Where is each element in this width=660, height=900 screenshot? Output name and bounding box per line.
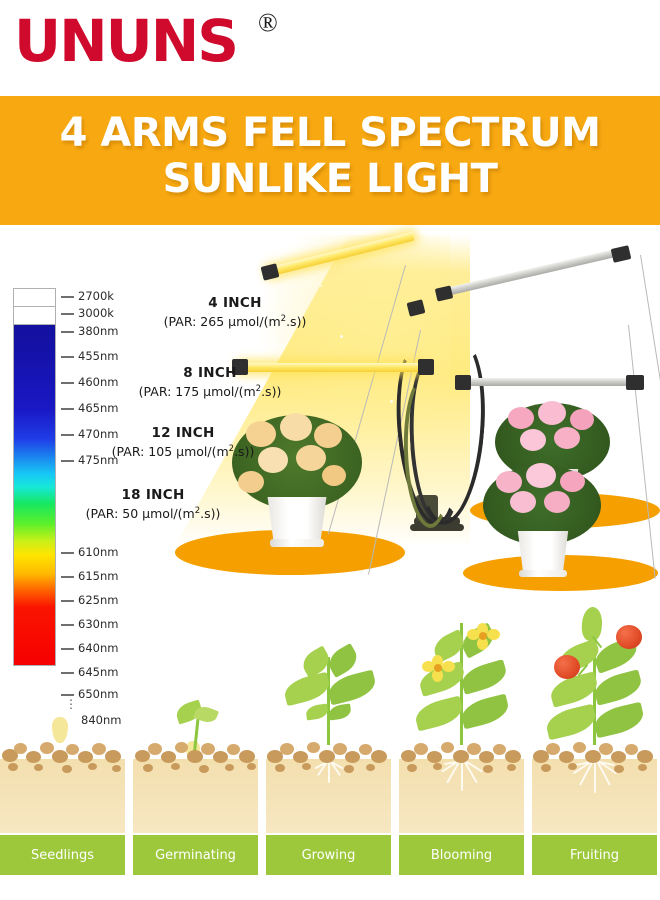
plant-stem: [327, 657, 330, 745]
pot-left: [265, 497, 329, 545]
stage-label: Germinating: [133, 848, 258, 863]
pot-rim-left: [270, 539, 324, 547]
logo-header: UNUNS ®: [0, 0, 660, 96]
plant-leaf: [592, 669, 645, 706]
rose-bloom: [314, 423, 342, 448]
soil-surface: [399, 739, 524, 775]
spectrum-label: 2700k: [78, 289, 114, 303]
spectrum-tick: [61, 552, 74, 554]
rose-bloom-pink: [538, 401, 566, 425]
rose-bloom-pink: [510, 491, 536, 513]
sparkle: [340, 335, 343, 338]
spectrum-tick: [61, 600, 74, 602]
stage-label: Growing: [266, 848, 391, 863]
spectrum-label: 460nm: [78, 375, 118, 389]
flower-petal: [442, 661, 455, 672]
brand-logo-text: UNUNS: [14, 12, 237, 70]
spectrum-label: 615nm: [78, 569, 118, 583]
rose-bloom: [322, 465, 346, 486]
soil-surface: [0, 739, 125, 775]
title-line-2: SUNLIKE LIGHT: [0, 156, 660, 202]
tomato-fruit: [616, 625, 642, 649]
spectrum-tick: [61, 356, 74, 358]
flower-petal: [487, 629, 500, 640]
rose-bloom-pink: [570, 409, 594, 430]
rose-bloom-pink: [554, 427, 580, 449]
led-cap: [455, 375, 471, 390]
growth-stage-seedlings: Seedlings: [0, 605, 125, 875]
support-wire: [628, 325, 656, 579]
tomato-fruit: [554, 655, 580, 679]
plant-leaf: [544, 704, 599, 741]
growth-stage-fruiting: Fruiting: [532, 605, 657, 875]
rose-bloom-pink: [560, 471, 585, 492]
flower-center: [434, 664, 442, 672]
spectrum-tick: [61, 382, 74, 384]
stage-label: Seedlings: [0, 848, 125, 863]
pot-rim-right-lower: [519, 570, 567, 577]
spectrum-tick: [61, 296, 74, 298]
stage-label: Fruiting: [532, 848, 657, 863]
rose-bloom-pink: [526, 463, 556, 488]
par-distance-label: 4 INCH: [120, 295, 350, 311]
rose-bloom-pink: [520, 429, 546, 451]
rose-bloom-pink: [496, 471, 522, 493]
sparkle: [320, 285, 322, 287]
sparkle: [390, 400, 393, 403]
spectrum-tick: [61, 460, 74, 462]
title-banner: 4 ARMS FELL SPECTRUM SUNLIKE LIGHT: [0, 96, 660, 225]
stage-label: Blooming: [399, 848, 524, 863]
rose-bloom: [296, 445, 326, 471]
led-strip-mid-right: [462, 378, 632, 386]
pot-right-lower: [515, 531, 571, 575]
flower-center: [479, 632, 487, 640]
led-cap: [418, 359, 434, 375]
spectrum-label: 610nm: [78, 545, 118, 559]
title-line-1: 4 ARMS FELL SPECTRUM: [0, 110, 660, 156]
spectrum-label: 455nm: [78, 349, 118, 363]
plant-leaf: [413, 696, 466, 732]
soil-surface: [133, 739, 258, 775]
spectrum-tick: [61, 313, 74, 315]
growth-stage-growing: Growing: [266, 605, 391, 875]
plant-leaf: [592, 702, 647, 739]
led-cap: [611, 245, 632, 263]
product-infographic: UNUNS ® 4 ARMS FELL SPECTRUM SUNLIKE LIG…: [0, 0, 660, 900]
plant-leaf: [459, 694, 512, 730]
spectrum-label: 470nm: [78, 427, 118, 441]
spectrum-tick: [61, 576, 74, 578]
spectrum-label: 380nm: [78, 324, 118, 338]
rose-bloom-pink: [508, 407, 534, 429]
spectrum-tick: [61, 331, 74, 333]
spectrum-tick: [61, 408, 74, 410]
soil-surface: [532, 739, 657, 775]
plant-leaf: [282, 672, 332, 706]
rose-bloom-pink: [544, 491, 570, 513]
par-value-label: (PAR: 265 µmol/(m2.s)): [120, 314, 350, 329]
plant-leaf: [328, 704, 352, 721]
spectrum-label: 475nm: [78, 453, 118, 467]
soil-surface: [266, 739, 391, 775]
spectrum-divider: [13, 306, 56, 307]
led-cap: [626, 375, 644, 390]
par-callout-4inch: 4 INCH (PAR: 265 µmol/(m2.s)): [120, 295, 350, 329]
plant-leaf: [305, 704, 329, 721]
spectrum-label: 3000k: [78, 306, 114, 320]
registered-trademark-icon: ®: [258, 8, 278, 38]
growth-stage-row: Seedlings: [0, 605, 660, 875]
spectrum-tick: [61, 434, 74, 436]
plant-leaf: [459, 659, 510, 695]
growth-stage-germinating: Germinating: [133, 605, 258, 875]
spectrum-label: 465nm: [78, 401, 118, 415]
spectrum-divider: [13, 324, 56, 325]
growth-stage-blooming: Blooming: [399, 605, 524, 875]
